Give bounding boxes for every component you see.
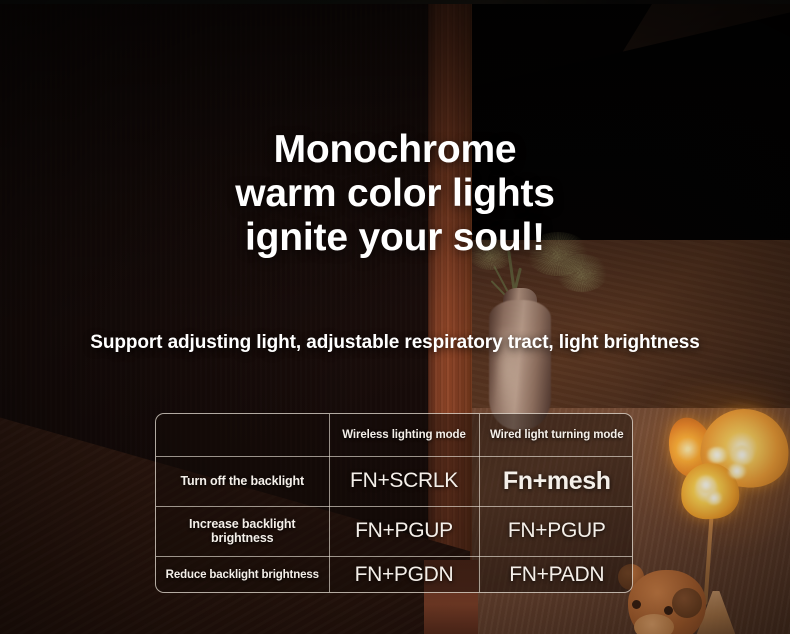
- row-label-reduce-brightness: Reduce backlight brightness: [156, 556, 329, 593]
- header-cell-empty: [156, 414, 329, 456]
- headline-line-1: Monochrome: [0, 128, 790, 172]
- shortcut-wired-increase: FN+PGUP: [479, 506, 633, 556]
- table-row: Reduce backlight brightness FN+PGDN FN+P…: [156, 556, 633, 593]
- lamp-bulb: [705, 491, 723, 505]
- bear-muzzle: [634, 614, 674, 634]
- bear-eye: [632, 600, 641, 609]
- shortcut-wired-turn-off: Fn+mesh: [479, 456, 633, 506]
- table-header-row: Wireless lighting mode Wired light turni…: [156, 414, 633, 456]
- bear-ear: [672, 588, 702, 618]
- headline: Monochrome warm color lights ignite your…: [0, 128, 790, 260]
- row-label-turn-off-backlight: Turn off the backlight: [156, 456, 329, 506]
- headline-line-2: warm color lights: [0, 172, 790, 216]
- shortcut-wireless-turn-off: FN+SCRLK: [329, 456, 479, 506]
- lamp-bulb: [727, 463, 747, 479]
- bear-figurine: [620, 560, 740, 634]
- lamp-bulb: [705, 447, 729, 463]
- backlight-shortcut-table: Wireless lighting mode Wired light turni…: [155, 413, 633, 593]
- headline-line-3: ignite your soul!: [0, 216, 790, 260]
- shortcut-wired-reduce: FN+PADN: [479, 556, 633, 593]
- subheadline: Support adjusting light, adjustable resp…: [0, 332, 790, 354]
- row-label-increase-brightness: Increase backlight brightness: [156, 506, 329, 556]
- header-cell-wireless-mode: Wireless lighting mode: [329, 414, 479, 456]
- bear-eye: [664, 606, 673, 615]
- shortcut-wireless-reduce: FN+PGDN: [329, 556, 479, 593]
- header-cell-wired-mode: Wired light turning mode: [479, 414, 633, 456]
- shortcut-wireless-increase: FN+PGUP: [329, 506, 479, 556]
- table-row: Turn off the backlight FN+SCRLK Fn+mesh: [156, 456, 633, 506]
- table-row: Increase backlight brightness FN+PGUP FN…: [156, 506, 633, 556]
- lamp-bulb: [729, 445, 755, 465]
